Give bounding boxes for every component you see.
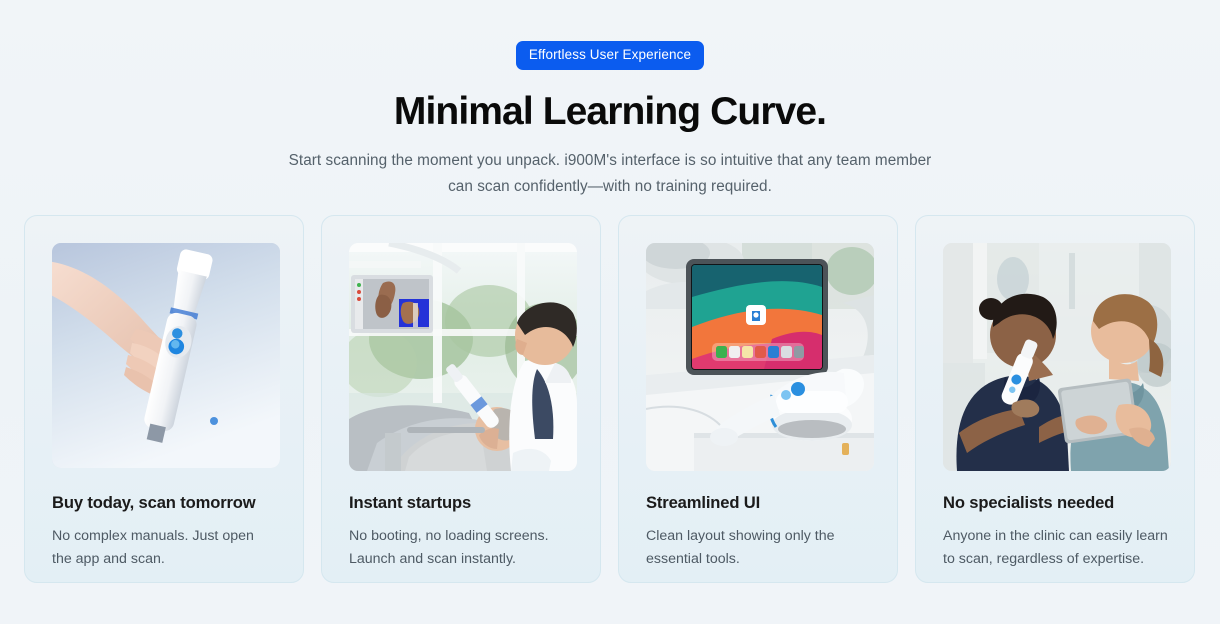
feature-card-title: Instant startups [349,492,575,513]
section-subtitle: Start scanning the moment you unpack. i9… [280,148,940,201]
feature-card[interactable]: Streamlined UI Clean layout showing only… [618,215,898,583]
feature-card-title: Buy today, scan tomorrow [52,492,278,513]
feature-card-description: No booting, no loading screens. Launch a… [349,525,574,571]
tablet-on-cart-with-scanner-photo [646,243,874,471]
feature-card-title: Streamlined UI [646,492,872,513]
feature-card[interactable]: Buy today, scan tomorrow No complex manu… [24,215,304,583]
section-header: Effortless User Experience Minimal Learn… [0,0,1220,201]
feature-card[interactable]: No specialists needed Anyone in the clin… [915,215,1195,583]
hand-holding-intraoral-scanner-photo [52,243,280,468]
section-badge: Effortless User Experience [516,41,704,70]
feature-card-description: Anyone in the clinic can easily learn to… [943,525,1168,571]
page-title: Minimal Learning Curve. [0,89,1220,135]
two-clinicians-with-scanner-and-tablet-photo [943,243,1171,471]
dentist-scanning-patient-photo [349,243,577,471]
feature-card[interactable]: Instant startups No booting, no loading … [321,215,601,583]
feature-card-grid: Buy today, scan tomorrow No complex manu… [24,215,1195,583]
feature-card-description: No complex manuals. Just open the app an… [52,525,277,571]
feature-card-title: No specialists needed [943,492,1169,513]
feature-card-description: Clean layout showing only the essential … [646,525,871,571]
marketing-section: Effortless User Experience Minimal Learn… [0,0,1220,624]
